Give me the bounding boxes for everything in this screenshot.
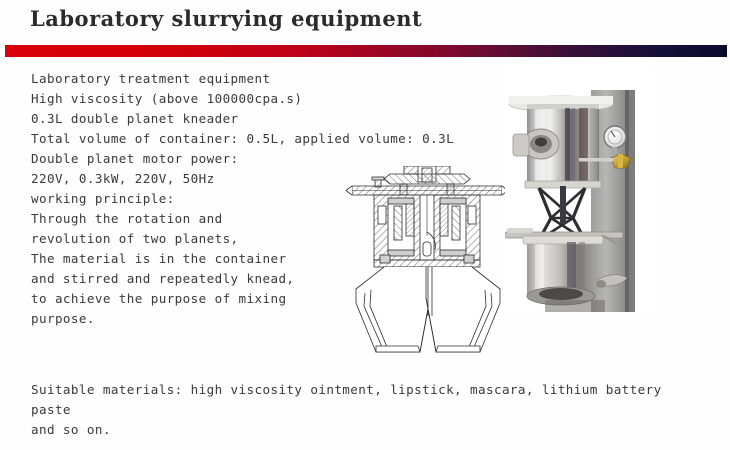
drawing-blade-left — [356, 267, 430, 352]
product-photo-figure — [505, 68, 651, 312]
base-shadow — [545, 300, 605, 312]
laboratory-kneader-photo-svg — [505, 68, 651, 312]
drawing-blade-right — [426, 267, 500, 352]
description-line: High viscosity (above 100000cpa.s) — [31, 89, 461, 109]
drawing-top-flange — [384, 166, 470, 184]
description-line: Laboratory treatment equipment — [31, 69, 461, 89]
materials-note-line: Suitable materials: high viscosity ointm… — [31, 380, 691, 420]
blade-shaft — [560, 186, 566, 224]
valve-pipe — [579, 158, 613, 162]
page-title: Laboratory slurrying equipment — [30, 6, 422, 31]
technical-drawing-figure — [344, 166, 510, 364]
description-line: Total volume of container: 0.5L, applied… — [31, 129, 461, 149]
drawing-mounting-plate — [346, 186, 508, 195]
gradient-divider — [5, 45, 727, 57]
materials-note-line: and so on. — [31, 420, 691, 440]
planetary-kneader-cross-section-svg — [344, 166, 510, 364]
drawing-gearbox-housing — [374, 195, 480, 260]
lower-vessel — [523, 236, 603, 305]
materials-note: Suitable materials: high viscosity ointm… — [31, 380, 691, 440]
description-line: 0.3L double planet kneader — [31, 109, 461, 129]
